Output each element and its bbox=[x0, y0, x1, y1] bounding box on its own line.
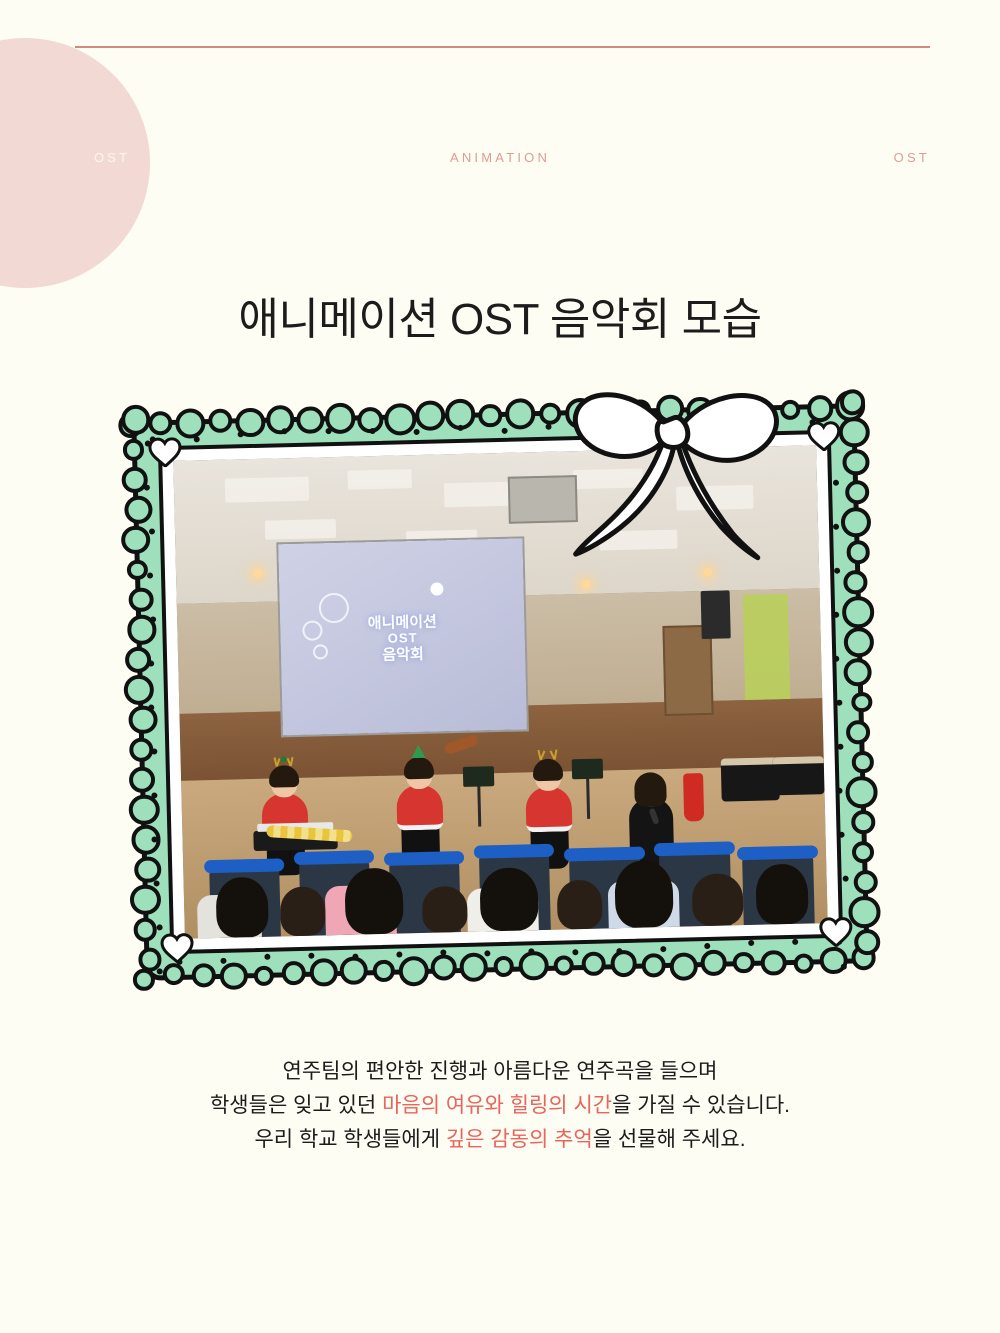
heart-icon bbox=[819, 916, 854, 947]
audience-child-head bbox=[422, 886, 468, 933]
caption-line-2-prefix: 학생들은 잊고 있던 bbox=[210, 1094, 382, 1117]
audience-child-head bbox=[280, 887, 326, 937]
header-label-right: OST bbox=[894, 150, 930, 165]
ceiling-light bbox=[347, 469, 412, 490]
page-title: 애니메이션 OST 음악회 모습 bbox=[0, 283, 1000, 347]
elf-hat bbox=[407, 745, 429, 759]
header-divider-rule bbox=[75, 46, 930, 48]
bubble-decoration bbox=[431, 582, 444, 595]
audience-child-head bbox=[479, 867, 538, 931]
reindeer-antler-headband bbox=[536, 746, 558, 760]
caption-line-3-suffix: 을 선물해 주세요. bbox=[593, 1128, 746, 1151]
ribbon-bow-icon bbox=[505, 352, 841, 590]
photo-frame: 애니메이션 OST 음악회 bbox=[131, 403, 869, 981]
caption-line-3-highlight: 깊은 감동의 추억 bbox=[446, 1128, 593, 1151]
green-wall-panel bbox=[743, 594, 791, 700]
page-header: OST ANIMATION OST bbox=[0, 150, 1000, 210]
caption-line-1: 연주팀의 편안한 진행과 아름다운 연주곡을 들으며 bbox=[0, 1055, 1000, 1089]
audience-child-head bbox=[344, 868, 403, 935]
caption-line-2-highlight: 마음의 여유와 힐링의 시간 bbox=[382, 1094, 612, 1117]
screen-title-text: 애니메이션 OST 음악회 bbox=[280, 611, 525, 666]
audience-child-head bbox=[216, 877, 269, 938]
caption-line-3-prefix: 우리 학교 학생들에게 bbox=[254, 1128, 445, 1151]
caption-line-2: 학생들은 잊고 있던 마음의 여유와 힐링의 시간을 가질 수 있습니다. bbox=[0, 1089, 1000, 1123]
audience-child-head bbox=[691, 874, 744, 927]
ceiling-light bbox=[225, 477, 309, 503]
ceiling-light bbox=[265, 519, 336, 540]
reindeer-antler-headband bbox=[272, 753, 294, 767]
caption-line-3: 우리 학교 학생들에게 깊은 감동의 추억을 선물해 주세요. bbox=[0, 1123, 1000, 1157]
wall-speaker bbox=[701, 591, 731, 639]
audience-seating bbox=[181, 780, 827, 939]
audience-child-head bbox=[756, 863, 809, 924]
caption-block: 연주팀의 편안한 진행과 아름다운 연주곡을 들으며 학생들은 잊고 있던 마음… bbox=[0, 1055, 1000, 1157]
projection-screen: 애니메이션 OST 음악회 bbox=[278, 538, 527, 735]
heart-icon bbox=[148, 437, 183, 468]
poster-page: OST ANIMATION OST 애니메이션 OST 음악회 모습 bbox=[0, 0, 1000, 1333]
audience-child-head bbox=[614, 859, 673, 928]
caption-line-2-suffix: 을 가질 수 있습니다. bbox=[612, 1094, 790, 1117]
audience-child-head bbox=[557, 880, 603, 930]
heart-icon bbox=[160, 933, 195, 964]
header-label-center: ANIMATION bbox=[0, 150, 1000, 165]
